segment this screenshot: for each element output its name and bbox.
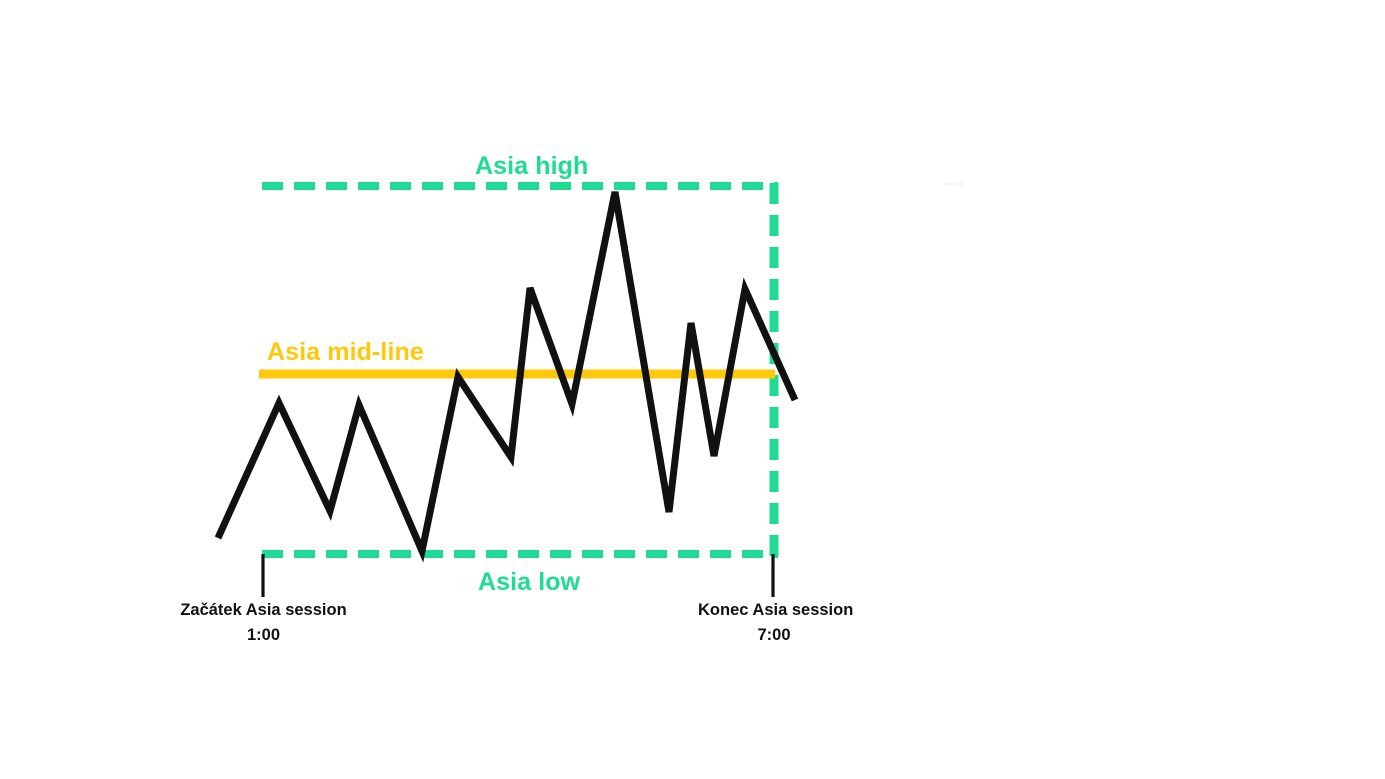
faint-artifact-mark <box>944 183 963 185</box>
asia-high-label: Asia high <box>475 152 588 181</box>
session-end-time: 7:00 <box>698 626 850 645</box>
session-start-text: Začátek Asia session <box>180 601 346 619</box>
price-chart-svg <box>0 0 1385 779</box>
session-start-time: 1:00 <box>180 626 347 645</box>
diagram-canvas: Asia high Asia low Asia mid-line Začátek… <box>0 0 1385 779</box>
asia-low-label: Asia low <box>478 568 580 597</box>
asia-mid-line-label: Asia mid-line <box>267 338 424 367</box>
session-end-label: Konec Asia session 7:00 <box>698 601 850 645</box>
session-end-text: Konec Asia session <box>698 601 853 619</box>
session-start-label: Začátek Asia session 1:00 <box>180 601 347 645</box>
